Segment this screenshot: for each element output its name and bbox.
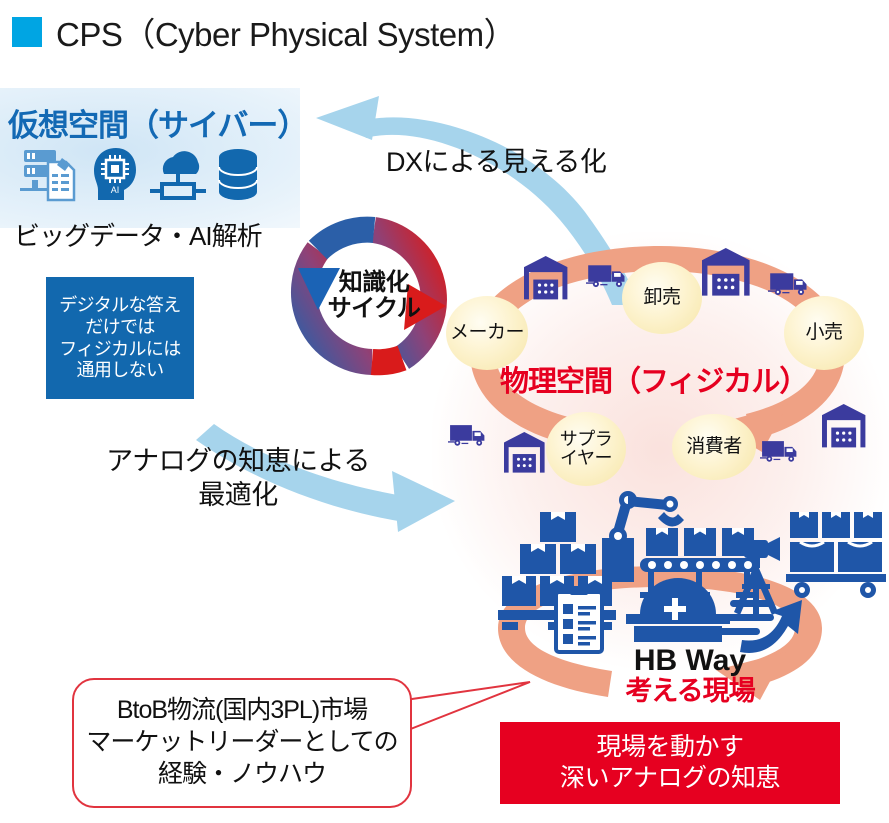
cyber-space-heading: 仮想空間（サイバー） — [8, 100, 308, 145]
market-leader-callout: BtoB物流(国内3PL)市場 マーケットリーダーとしての 経験・ノウハウ — [72, 678, 412, 808]
digital-statement-line-2: だけでは — [85, 317, 155, 338]
knowledge-cycle: 知識化 サイクル — [278, 216, 470, 376]
supply-node-wholesale: 卸売 — [622, 262, 702, 334]
analog-flow-line-1: アナログの知恵による — [88, 445, 388, 479]
page-title: CPS（Cyber Physical System） — [12, 8, 516, 56]
knowledge-cycle-line-2: サイクル — [328, 296, 421, 322]
blue-square-marker-icon — [12, 17, 42, 47]
supply-node-supplier: サプラ イヤー — [546, 412, 626, 486]
hbway-title-en: HB Way — [590, 645, 790, 677]
supply-node-retail: 小売 — [784, 296, 864, 370]
digital-statement-line-1: デジタルな答え — [59, 295, 180, 316]
analog-flow-label: アナログの知恵による 最適化 — [88, 445, 388, 513]
digital-statement-line-4: 通用しない — [77, 360, 164, 381]
supply-node-consumer: 消費者 — [672, 414, 756, 480]
ai-brain-chip-icon: AI — [90, 146, 140, 202]
onsite-statement-box: 現場を動かす 深いアナログの知恵 — [500, 722, 840, 804]
digital-statement-line-3: フィジカルには — [59, 339, 180, 360]
knowledge-cycle-line-1: 知識化 — [339, 270, 410, 296]
cloud-network-icon — [150, 146, 206, 202]
physical-space-title: 物理空間（フィジカル） — [500, 358, 840, 400]
hbway-title-jp: 考える現場 — [590, 677, 790, 707]
supply-node-supplier-line-1: サプラ — [560, 429, 613, 449]
supply-node-retail-label: 小売 — [805, 323, 842, 343]
analog-flow-line-2: 最適化 — [88, 479, 388, 513]
bigdata-caption: ビッグデータ・AI解析 — [14, 216, 304, 253]
supply-node-supplier-line-2: イヤー — [560, 448, 612, 468]
supply-node-consumer-label: 消費者 — [686, 437, 742, 457]
cps-diagram: CPS（Cyber Physical System） — [0, 0, 889, 823]
callout-line-3: 経験・ノウハウ — [158, 759, 326, 791]
callout-line-2: マーケットリーダーとしての — [86, 727, 397, 759]
onsite-statement-line-2: 深いアナログの知恵 — [560, 763, 780, 795]
cyber-icon-row: AI — [18, 140, 268, 202]
page-title-text: CPS（Cyber Physical System） — [56, 8, 516, 56]
supply-node-wholesale-label: 卸売 — [643, 288, 680, 308]
supply-node-maker-label: メーカー — [450, 323, 524, 343]
server-rack-icon — [18, 144, 80, 202]
supply-node-maker: メーカー — [446, 296, 528, 370]
knowledge-cycle-label: 知識化 サイクル — [278, 216, 470, 376]
database-icon — [216, 148, 260, 202]
svg-text:AI: AI — [111, 185, 120, 195]
hbway-block: HB Way 考える現場 — [590, 645, 790, 706]
onsite-statement-line-1: 現場を動かす — [596, 732, 743, 764]
dx-flow-label: DXによる見える化 — [386, 140, 606, 179]
digital-statement-box: デジタルな答え だけでは フィジカルには 通用しない — [46, 277, 194, 399]
callout-line-1: BtoB物流(国内3PL)市場 — [117, 695, 367, 727]
